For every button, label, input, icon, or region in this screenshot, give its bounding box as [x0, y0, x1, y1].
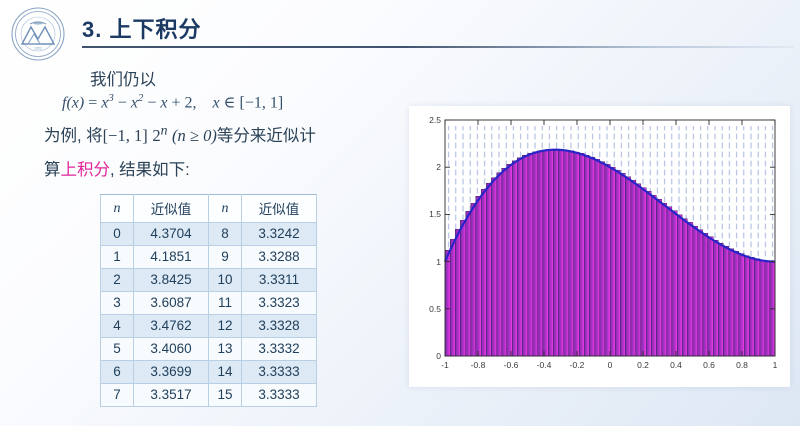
cell-value-1: 3.4060: [134, 338, 209, 361]
cell-value-1: 3.3699: [134, 361, 209, 384]
cell-value-1: 3.4762: [134, 315, 209, 338]
x-tick-label: 1: [773, 360, 778, 370]
cell-n-1: 4: [101, 315, 134, 338]
partition-line: 为例, 将[−1, 1] 2n (n ≥ 0)等分来近似计: [44, 122, 316, 146]
chart-svg: [409, 106, 790, 387]
cell-value-2: 3.3333: [242, 361, 317, 384]
cell-value-2: 3.3323: [242, 292, 317, 315]
intro-line: 我们仍以: [90, 66, 156, 90]
formula-var-x: x: [213, 94, 220, 111]
col-header-value-2: 近似值: [242, 195, 317, 223]
col-header-n-2: n: [209, 195, 242, 223]
y-tick-label: 1.5: [429, 209, 441, 219]
x-tick-label: -0.2: [570, 360, 585, 370]
formula-element-of: ∈: [224, 94, 236, 111]
cell-n-2: 12: [209, 315, 242, 338]
x-tick-label: 0.2: [637, 360, 649, 370]
x-tick-label: -1: [441, 360, 449, 370]
y-tick-label: 1: [436, 257, 441, 267]
cell-value-1: 3.6087: [134, 292, 209, 315]
cell-value-2: 3.3242: [242, 223, 317, 246]
table-header-row: n 近似值 n 近似值: [101, 195, 317, 223]
result-text-a: 算: [44, 161, 61, 179]
x-tick-label: -0.6: [504, 360, 519, 370]
partition-text-c: 等分来近似计: [217, 127, 316, 145]
cell-value-1: 4.1851: [134, 246, 209, 269]
table-head: n 近似值 n 近似值: [101, 195, 317, 223]
table-row: 14.185193.3288: [101, 246, 317, 269]
cell-value-2: 3.3333: [242, 384, 317, 407]
y-tick-label: 2: [436, 162, 441, 172]
cell-value-1: 3.8425: [134, 269, 209, 292]
cell-n-2: 8: [209, 223, 242, 246]
x-tick-label: -0.4: [537, 360, 552, 370]
cell-n-1: 6: [101, 361, 134, 384]
svg-text:1952: 1952: [34, 47, 42, 51]
cell-n-1: 1: [101, 246, 134, 269]
partition-condition: (n ≥ 0): [172, 126, 217, 145]
cell-n-2: 9: [209, 246, 242, 269]
formula-fx: f(x): [62, 94, 84, 111]
upper-sum-chart: 00.511.522.5 -1-0.8-0.6-0.4-0.200.20.40.…: [409, 106, 790, 387]
slide-root: 1952 3. 上下积分 我们仍以 f(x) = x3 − x2 − x + 2…: [0, 0, 800, 426]
formula-domain: [−1, 1]: [239, 94, 283, 111]
cell-value-1: 4.3704: [134, 223, 209, 246]
y-tick-label: 0.5: [429, 304, 441, 314]
table-row: 23.8425103.3311: [101, 269, 317, 292]
cell-n-2: 15: [209, 384, 242, 407]
formula-term1-exp: 3: [108, 92, 113, 104]
y-tick-label: 2.5: [429, 115, 441, 125]
col-header-value-1: 近似值: [134, 195, 209, 223]
formula-minus2: −: [147, 94, 156, 111]
approximation-table: n 近似值 n 近似值 04.370483.324214.185193.3288…: [100, 194, 317, 407]
table-row: 63.3699143.3333: [101, 361, 317, 384]
cell-n-1: 5: [101, 338, 134, 361]
table-row: 73.3517153.3333: [101, 384, 317, 407]
chart-inner: 00.511.522.5 -1-0.8-0.6-0.4-0.200.20.40.…: [409, 106, 790, 387]
cell-n-1: 2: [101, 269, 134, 292]
result-text-b: , 结果如下:: [110, 161, 190, 179]
partition-exponent: n: [161, 123, 168, 138]
cell-value-2: 3.3332: [242, 338, 317, 361]
x-tick-label: 0.8: [736, 360, 748, 370]
x-tick-label: 0: [608, 360, 613, 370]
table-row: 43.4762123.3328: [101, 315, 317, 338]
cell-n-1: 7: [101, 384, 134, 407]
page-title: 3. 上下积分: [82, 12, 201, 44]
table-row: 53.4060133.3332: [101, 338, 317, 361]
cell-n-2: 13: [209, 338, 242, 361]
formula-term2-exp: 2: [138, 92, 143, 104]
partition-interval: [−1, 1]: [103, 126, 148, 145]
cell-value-2: 3.3328: [242, 315, 317, 338]
table-row: 33.6087113.3323: [101, 292, 317, 315]
table-body: 04.370483.324214.185193.328823.8425103.3…: [101, 223, 317, 407]
result-line: 算上积分, 结果如下:: [44, 156, 190, 180]
cell-n-1: 3: [101, 292, 134, 315]
formula-term2: x: [131, 94, 138, 111]
formula-term3: x: [160, 94, 167, 111]
formula-equals: =: [88, 94, 97, 111]
cell-n-2: 11: [209, 292, 242, 315]
table-row: 04.370483.3242: [101, 223, 317, 246]
title-underline: [82, 46, 794, 48]
formula-minus1: −: [118, 94, 127, 111]
cell-value-1: 3.3517: [134, 384, 209, 407]
function-formula: f(x) = x3 − x2 − x + 2, x ∈ [−1, 1]: [62, 92, 283, 112]
x-tick-label: 0.6: [703, 360, 715, 370]
university-seal-logo: 1952: [10, 6, 66, 62]
col-header-n-1: n: [101, 195, 134, 223]
cell-n-1: 0: [101, 223, 134, 246]
partition-base: 2: [152, 126, 160, 145]
x-tick-label: -0.8: [471, 360, 486, 370]
cell-n-2: 14: [209, 361, 242, 384]
formula-const: 2,: [185, 94, 197, 111]
y-axis-tick-labels: 00.511.522.5: [409, 106, 441, 387]
cell-value-2: 3.3288: [242, 246, 317, 269]
cell-n-2: 10: [209, 269, 242, 292]
upper-integral-highlight: 上积分: [61, 161, 111, 179]
formula-plus: +: [172, 94, 181, 111]
partition-text-a: 为例, 将: [44, 127, 103, 145]
cell-value-2: 3.3311: [242, 269, 317, 292]
x-tick-label: 0.4: [670, 360, 682, 370]
